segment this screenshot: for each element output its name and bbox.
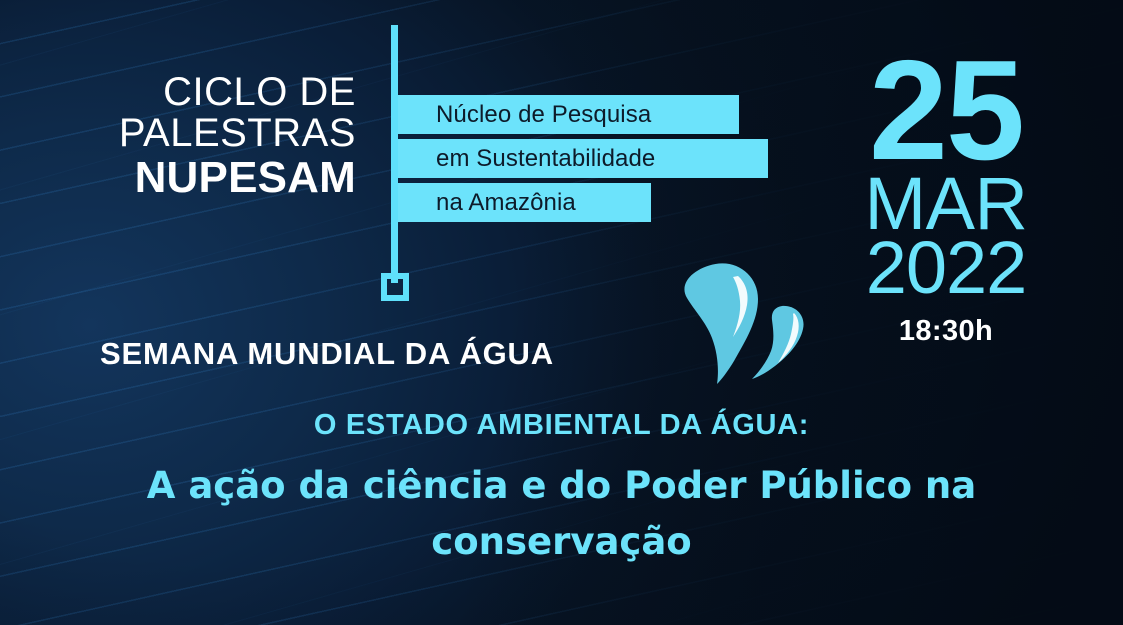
label-box-nucleo: Núcleo de Pesquisa bbox=[398, 95, 739, 134]
event-time: 18:30h bbox=[831, 315, 1061, 348]
headline-theme: O ESTADO AMBIENTAL DA ÁGUA: bbox=[0, 409, 1123, 442]
label-box-sustentabilidade: em Sustentabilidade bbox=[398, 139, 768, 178]
date-year: 2022 bbox=[831, 235, 1061, 300]
headline-subtitle: A ação da ciência e do Poder Público na … bbox=[60, 458, 1063, 569]
headline-event: SEMANA MUNDIAL DA ÁGUA bbox=[100, 336, 554, 372]
water-drop-icon bbox=[672, 258, 822, 398]
title-line-2: PALESTRAS bbox=[0, 113, 356, 154]
title-line-1: CICLO DE bbox=[0, 72, 356, 113]
event-date-block: 25 MAR 2022 18:30h bbox=[831, 52, 1061, 348]
page-title: CICLO DE PALESTRAS NUPESAM bbox=[0, 72, 368, 200]
title-line-3-brand: NUPESAM bbox=[0, 156, 356, 201]
square-marker-icon bbox=[381, 273, 409, 301]
water-drop-large-shape bbox=[684, 263, 758, 384]
label-box-amazonia: na Amazônia bbox=[398, 183, 651, 222]
date-day: 25 bbox=[831, 52, 1061, 170]
vertical-connector-line-icon bbox=[391, 25, 398, 283]
event-poster: CICLO DE PALESTRAS NUPESAM Núcleo de Pes… bbox=[0, 0, 1123, 625]
